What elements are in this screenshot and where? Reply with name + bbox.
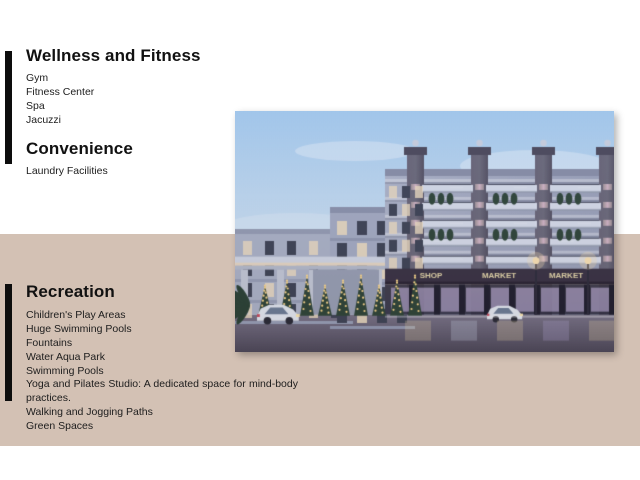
list-item: Spa bbox=[26, 100, 201, 114]
section-wellness-and-fitness: Wellness and Fitness Gym Fitness Center … bbox=[26, 47, 201, 128]
list-item: Laundry Facilities bbox=[26, 165, 133, 179]
accent-bar-top bbox=[5, 51, 12, 164]
section-heading-convenience: Convenience bbox=[26, 140, 133, 159]
list-item: Jacuzzi bbox=[26, 114, 201, 128]
list-item: Fitness Center bbox=[26, 86, 201, 100]
list-item: Swimming Pools bbox=[26, 365, 298, 379]
section-convenience: Convenience Laundry Facilities bbox=[26, 140, 133, 179]
background-band-white-bottom bbox=[0, 446, 640, 480]
residential-complex-image bbox=[235, 111, 614, 352]
section-list-wellness: Gym Fitness Center Spa Jacuzzi bbox=[26, 72, 201, 128]
list-item: Walking and Jogging Paths bbox=[26, 406, 298, 420]
list-item: Yoga and Pilates Studio: A dedicated spa… bbox=[26, 378, 298, 406]
slide-canvas: Wellness and Fitness Gym Fitness Center … bbox=[0, 0, 640, 480]
section-heading-wellness: Wellness and Fitness bbox=[26, 47, 201, 66]
list-item: Water Aqua Park bbox=[26, 351, 298, 365]
accent-bar-bottom bbox=[5, 284, 12, 401]
list-item: Green Spaces bbox=[26, 420, 298, 434]
residential-complex-canvas bbox=[235, 111, 614, 352]
section-list-convenience: Laundry Facilities bbox=[26, 165, 133, 179]
list-item: Gym bbox=[26, 72, 201, 86]
